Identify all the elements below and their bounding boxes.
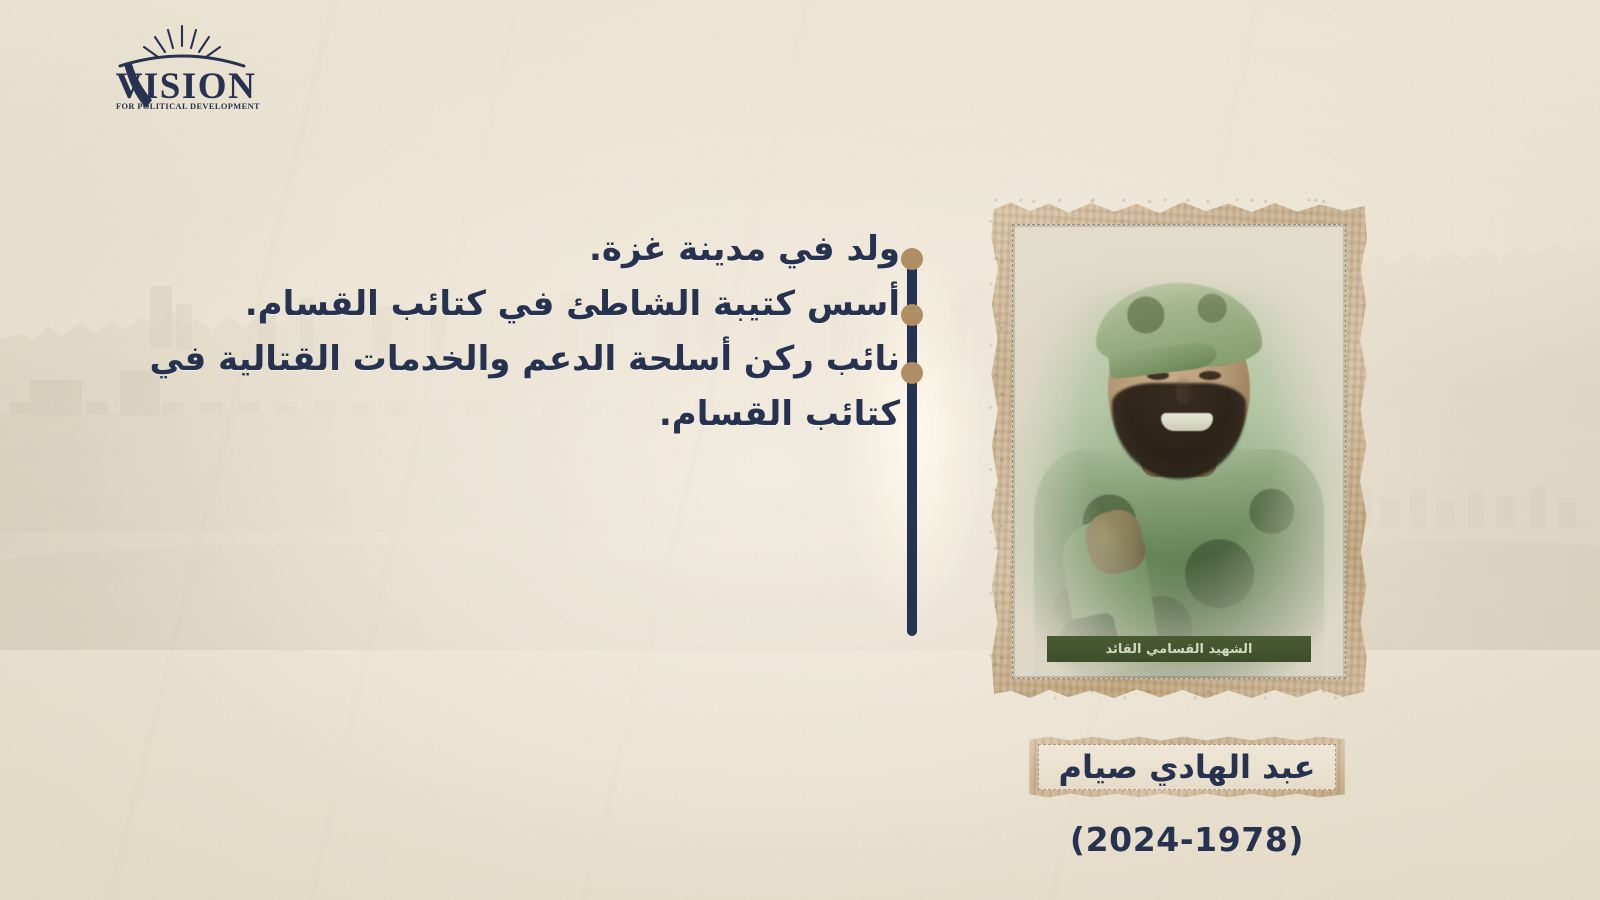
martyr-tribute-poster: VISION FOR POLITICAL DEVELOPMENT ولد في … <box>0 0 1600 900</box>
logo-wordmark: VISION <box>116 66 257 107</box>
timeline-rail <box>901 236 923 636</box>
bio-line: أسس كتيبة الشاطئ في كتائب القسام. <box>140 277 900 332</box>
timeline-dot <box>901 304 923 326</box>
vision-logo[interactable]: VISION FOR POLITICAL DEVELOPMENT <box>102 22 262 112</box>
timeline-dot <box>901 248 923 270</box>
vision-logo-mark: VISION FOR POLITICAL DEVELOPMENT <box>102 22 262 112</box>
biography-text-block: ولد في مدينة غزة. أسس كتيبة الشاطئ في كت… <box>140 222 900 442</box>
sunburst-icon <box>144 26 220 57</box>
logo-tagline: FOR POLITICAL DEVELOPMENT <box>116 102 260 111</box>
life-dates: (2024-1978) <box>1026 820 1348 859</box>
portrait-photo-frame: الشهيد القسامي القائد <box>988 198 1370 703</box>
portrait-photo-window: الشهيد القسامي القائد <box>1012 224 1346 679</box>
portrait-edge-fade <box>1013 225 1345 678</box>
portrait-caption-text: الشهيد القسامي القائد <box>1106 642 1253 657</box>
bio-line: نائب ركن أسلحة الدعم والخدمات القتالية ف… <box>140 332 900 442</box>
plaque-inner-panel: عبد الهادي صيام <box>1038 744 1336 790</box>
portrait-image <box>1013 225 1345 678</box>
martyr-name: عبد الهادي صيام <box>1059 748 1316 786</box>
timeline-dot <box>901 362 923 384</box>
portrait-caption-bar: الشهيد القسامي القائد <box>1047 636 1311 662</box>
logo-arc-icon <box>120 56 244 66</box>
name-plaque: عبد الهادي صيام <box>1026 736 1348 798</box>
bio-line: ولد في مدينة غزة. <box>140 222 900 277</box>
